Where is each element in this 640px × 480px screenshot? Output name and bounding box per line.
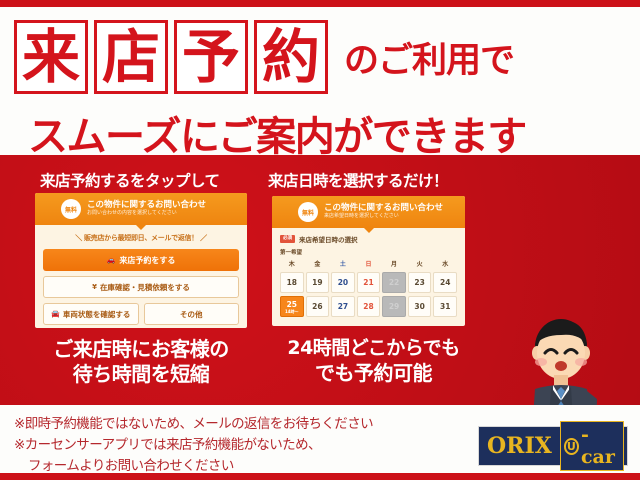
day-number: 31: [440, 302, 450, 311]
calendar-day[interactable]: 28: [357, 296, 381, 317]
mockup-header-left: 無料 この物件に関するお問い合わせ お問い合わせの内容を選択してください: [35, 193, 247, 225]
calendar-day-disabled: 29: [382, 296, 406, 317]
weekday-tue: 火: [408, 259, 432, 269]
left-caption-line1: ご来店時にお客様の: [16, 337, 266, 362]
reserve-visit-button[interactable]: 🚗 来店予約をする: [43, 249, 239, 271]
calendar-section-label: 来店希望日時の選択: [299, 234, 358, 244]
weekday-mon: 月: [382, 259, 406, 269]
footer-note-2: ※カーセンサーアプリでは来店予約機能がないため、: [14, 437, 321, 453]
kanji-char-2: 店: [102, 28, 160, 86]
header-notch-right: [364, 228, 374, 233]
calendar-day[interactable]: 30: [408, 296, 432, 317]
calendar-weekday-header: 木 金 土 日 月 火 水: [280, 259, 457, 269]
top-red-bar: [0, 0, 640, 7]
stock-quote-label: 在庫確認・見積依頼をする: [100, 282, 190, 293]
calendar-day-selected[interactable]: 25 14時〜: [280, 296, 304, 317]
day-number: 21: [363, 278, 373, 287]
right-column-title: 来店日時を選択するだけ！: [268, 169, 448, 191]
calendar-day[interactable]: 31: [433, 296, 457, 317]
other-label: その他: [180, 309, 203, 320]
footer-notes: ※即時予約機能ではないため、メールの返信をお待ちください ※カーセンサーアプリで…: [14, 414, 464, 477]
orix-ucar-logo: ORIX U -car: [478, 426, 628, 466]
mockup-header-right: 無料 この物件に関するお問い合わせ 来店希望日時を選択してください: [272, 196, 465, 228]
right-caption-line1: 24時間どこからでも: [266, 337, 481, 361]
calendar-day[interactable]: 23: [408, 272, 432, 293]
day-number: 22: [389, 278, 399, 287]
other-button[interactable]: その他: [144, 303, 240, 325]
vehicle-condition-button[interactable]: 🚘 車両状態を確認する: [43, 303, 139, 325]
required-section-row: 必須 来店希望日時の選択: [280, 234, 457, 244]
headline-section: 来 店 予 約 のご利用で スムーズにご案内ができます: [0, 8, 640, 154]
day-number: 28: [363, 302, 373, 311]
reserve-visit-label: 来店予約をする: [119, 255, 175, 266]
weekday-fri: 金: [306, 259, 330, 269]
headline-row-1: 来 店 予 約 のご利用で: [14, 20, 514, 94]
weekday-sun: 日: [357, 259, 381, 269]
preference-label: 第一希望: [280, 248, 457, 256]
mockup-header-sub-left: お問い合わせの内容を選択してください: [87, 211, 206, 217]
calendar-day[interactable]: 26: [306, 296, 330, 317]
calendar-day[interactable]: 19: [306, 272, 330, 293]
day-number: 19: [312, 278, 322, 287]
mockup-header-sub-right: 来店希望日時を選択してください: [324, 214, 443, 220]
headline-tail-text: のご利用で: [344, 32, 514, 83]
calendar-day[interactable]: 21: [357, 272, 381, 293]
kanji-box-1: 来: [14, 20, 88, 94]
day-number: 26: [312, 302, 322, 311]
calendar-body: 必須 来店希望日時の選択 第一希望 木 金 土 日 月 火 水 18 19 20: [272, 228, 465, 317]
left-caption: ご来店時にお客様の 待ち時間を短縮: [16, 337, 266, 387]
car-status-icon: 🚘: [51, 311, 60, 318]
kanji-char-3: 予: [182, 28, 240, 86]
day-number: 24: [440, 278, 450, 287]
mockup-header-text-left: この物件に関するお問い合わせ お問い合わせの内容を選択してください: [87, 201, 206, 217]
free-badge-right: 無料: [298, 202, 318, 222]
calendar-day[interactable]: 24: [433, 272, 457, 293]
footer-note-1: ※即時予約機能ではないため、メールの返信をお待ちください: [14, 416, 373, 432]
orix-brand-text: ORIX: [487, 433, 552, 459]
advertisement-banner: 来 店 予 約 のご利用で スムーズにご案内ができます 来店予約するをタップして…: [0, 0, 640, 480]
calendar-mockup: 無料 この物件に関するお問い合わせ 来店希望日時を選択してください 必須 来店希…: [272, 196, 465, 326]
kanji-box-3: 予: [174, 20, 248, 94]
day-time-label: 14時〜: [285, 310, 299, 314]
kanji-box-4: 約: [254, 20, 328, 94]
right-caption: 24時間どこからでも でも予約可能: [266, 337, 481, 386]
day-number: 18: [287, 278, 297, 287]
weekday-thu: 木: [280, 259, 304, 269]
ucar-text: -car: [581, 424, 617, 468]
free-badge-left: 無料: [61, 199, 81, 219]
day-number: 23: [414, 278, 424, 287]
kanji-box-2: 店: [94, 20, 168, 94]
calendar-week-1: 18 19 20 21 22 23 24: [280, 272, 457, 293]
red-feature-panel: 来店予約するをタップして 来店日時を選択するだけ！ 無料 この物件に関するお問い…: [0, 155, 640, 405]
mockup-header-text-right: この物件に関するお問い合わせ 来店希望日時を選択してください: [324, 204, 443, 220]
day-number: 29: [389, 302, 399, 311]
bottom-red-bar: [0, 473, 640, 480]
calendar-day[interactable]: 20: [331, 272, 355, 293]
required-badge: 必須: [280, 235, 295, 243]
ucar-badge: U -car: [560, 421, 624, 471]
yen-icon: ¥: [92, 284, 97, 291]
right-caption-line2: でも予約可能: [266, 361, 481, 386]
stock-quote-button[interactable]: ¥ 在庫確認・見積依頼をする: [43, 276, 239, 298]
left-column-title: 来店予約するをタップして: [40, 169, 220, 191]
lead-text-left: ＼ 販売店から最短即日、メールで返信！ ／: [35, 233, 247, 243]
day-number: 30: [414, 302, 424, 311]
u-circle-icon: U: [564, 438, 579, 455]
calendar-day[interactable]: 27: [331, 296, 355, 317]
vehicle-condition-label: 車両状態を確認する: [63, 309, 131, 320]
calendar-day[interactable]: 18: [280, 272, 304, 293]
headline-row-2: スムーズにご案内ができます: [28, 104, 628, 162]
secondary-button-row: 🚘 車両状態を確認する その他: [43, 303, 239, 325]
day-number: 20: [338, 278, 348, 287]
inquiry-form-mockup: 無料 この物件に関するお問い合わせ お問い合わせの内容を選択してください ＼ 販…: [35, 193, 247, 328]
calendar-day-disabled: 22: [382, 272, 406, 293]
weekday-sat: 土: [331, 259, 355, 269]
header-notch-left: [136, 225, 146, 230]
kanji-char-4: 約: [262, 28, 320, 86]
day-number: 25: [287, 300, 297, 309]
left-caption-line2: 待ち時間を短縮: [16, 362, 266, 387]
calendar-week-2: 25 14時〜 26 27 28 29 30 31: [280, 296, 457, 317]
kanji-char-1: 来: [22, 28, 80, 86]
car-icon: 🚗: [107, 257, 116, 264]
weekday-wed: 水: [433, 259, 457, 269]
day-number: 27: [338, 302, 348, 311]
